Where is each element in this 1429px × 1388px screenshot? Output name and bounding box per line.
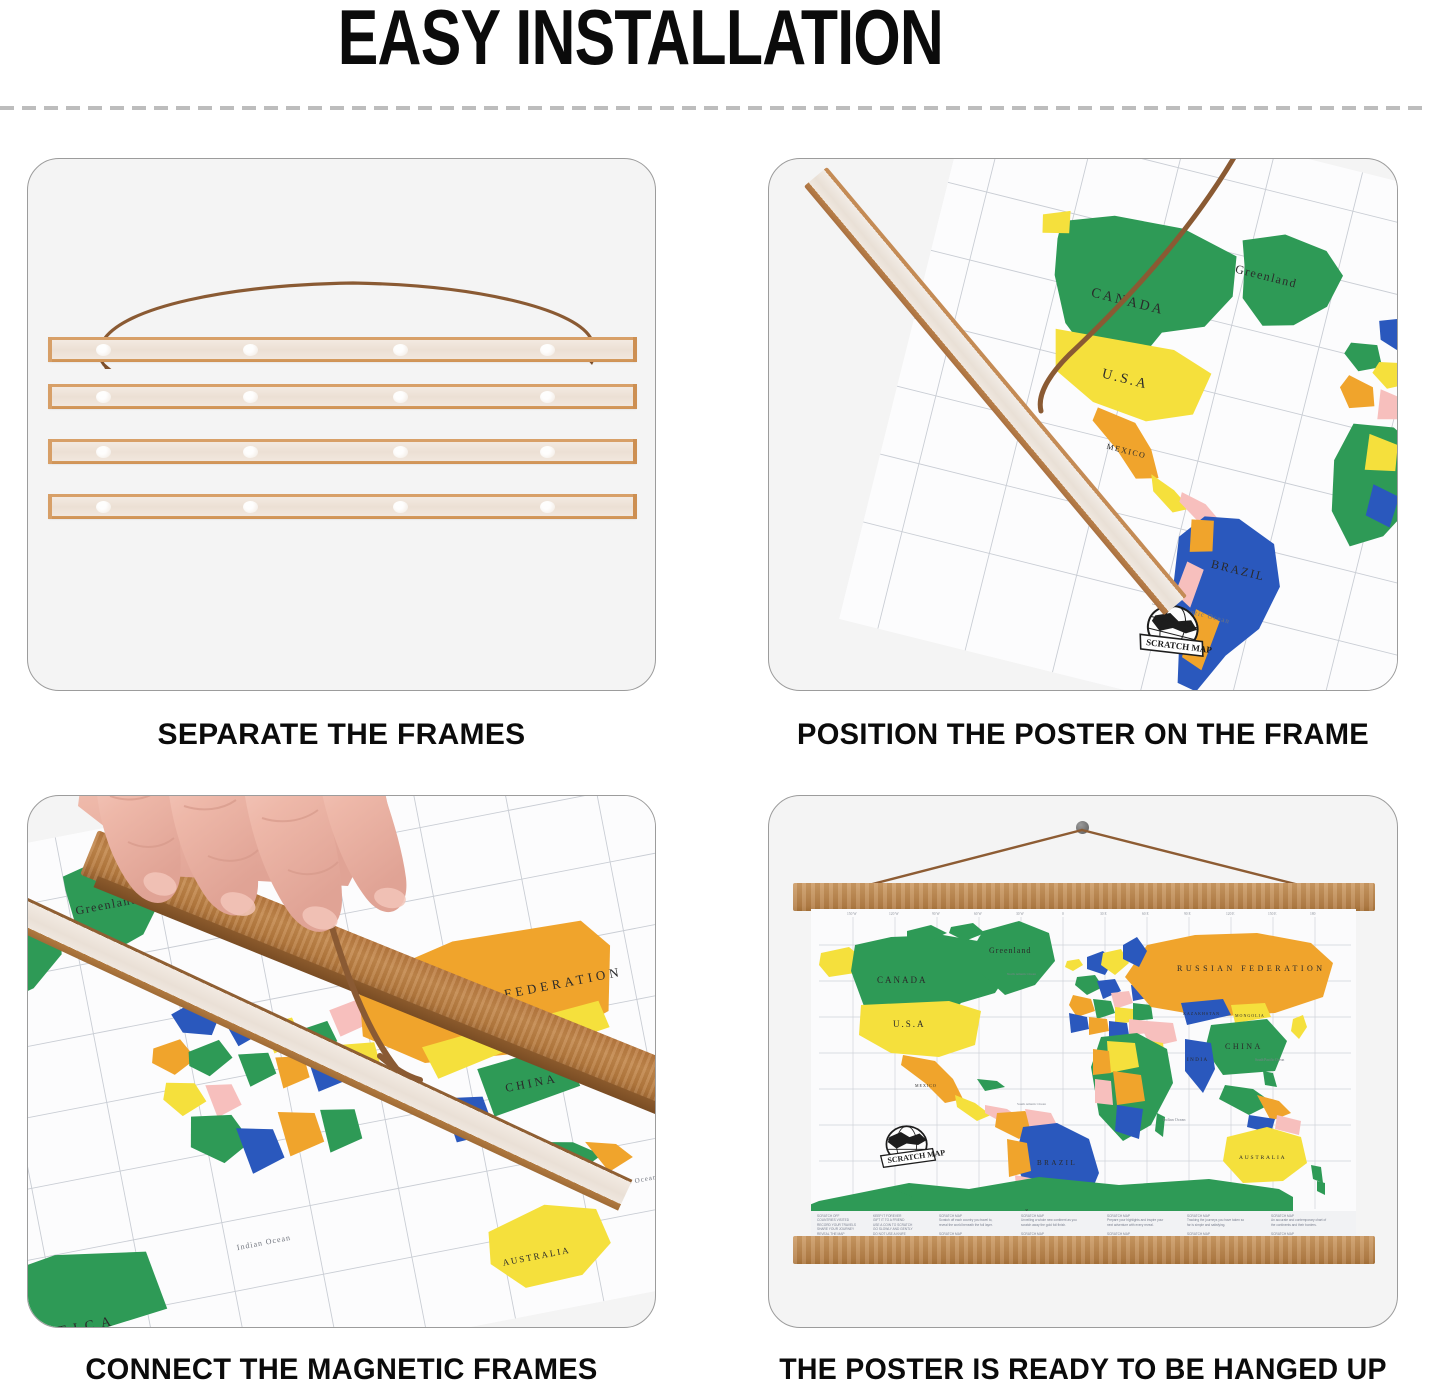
magnet-dot <box>96 344 111 356</box>
map-tick-label: 150 W <box>847 912 857 916</box>
magnet-row <box>48 494 637 519</box>
map-label-canada: CANADA <box>877 975 928 985</box>
step-4-caption: THE POSTER IS READY TO BE HANGED UP <box>774 1353 1392 1387</box>
hanging-poster-scene: 150 W 120 W 90 W 60 W 30 W 0 30 E 60 E 9… <box>769 796 1398 1328</box>
map-label-usa: U.S.A <box>893 1019 926 1029</box>
legend-column: SCRATCH MAP Unveiling a whole new contin… <box>1021 1214 1099 1238</box>
legend-column: SCRATCH MAP Tracking the journeys you ha… <box>1187 1214 1263 1238</box>
map-tick-label: 60 W <box>974 912 982 916</box>
world-map-poster[interactable]: 150 W 120 W 90 W 60 W 30 W 0 30 E 60 E 9… <box>811 909 1356 1239</box>
map-tick-label: 30 W <box>1016 912 1024 916</box>
step-2-panel-position-the-poster: CANADA U.S.A Greenland MEXICO BRAZIL RUS… <box>768 158 1398 691</box>
magnet-row <box>48 439 637 464</box>
magnet-dot <box>243 344 258 356</box>
map-tick-label: 120 E <box>1226 912 1235 916</box>
map-tick-label: 150 E <box>1268 912 1277 916</box>
magnet-dot <box>243 391 258 403</box>
map-label-north-atlantic-ocean: North Atlantic Ocean <box>1007 972 1036 976</box>
map-label-south-pacific-ocean: South Pacific Ocean <box>1255 1058 1285 1062</box>
world-map-artwork: 150 W 120 W 90 W 60 W 30 W 0 30 E 60 E 9… <box>811 909 1356 1239</box>
map-tick-label: 60 E <box>1142 912 1149 916</box>
frame-strip[interactable] <box>48 384 637 409</box>
step-2-caption: POSITION THE POSTER ON THE FRAME <box>768 718 1399 752</box>
easy-installation-instruction-sheet: EASY INSTALLATION <box>0 0 1429 1388</box>
bottom-magnetic-frame-bar[interactable] <box>793 1236 1375 1264</box>
magnet-dot <box>243 501 258 513</box>
magnet-dot <box>540 344 555 356</box>
map-label-brazil: BRAZIL <box>1037 1159 1077 1167</box>
legend-column: SCRATCH OFF COUNTRIES VISITED RECORD YOU… <box>817 1214 869 1238</box>
magnet-dot <box>540 501 555 513</box>
step-3-panel-connect-the-magnetic-frames: CANADA U.S.A Greenland RUSSIAN FEDERATIO… <box>27 795 656 1328</box>
magnet-dot <box>393 501 408 513</box>
map-label-mongolia: MONGOLIA <box>1235 1013 1265 1018</box>
map-label-russian-federation: RUSSIAN FEDERATION <box>1177 964 1326 973</box>
magnet-dot <box>393 446 408 458</box>
map-label-kazakhstan: KAZAKHSTAN <box>1183 1011 1220 1016</box>
magnet-dot <box>393 344 408 356</box>
map-label-south-atlantic-ocean: South Atlantic Ocean <box>1017 1102 1046 1106</box>
step-1-panel-separate-the-frames <box>27 158 656 691</box>
poster-on-frame-scene: CANADA U.S.A Greenland MEXICO BRAZIL RUS… <box>769 159 1398 691</box>
frame-strip[interactable] <box>48 494 637 519</box>
map-tick-label: 0 <box>1062 912 1064 916</box>
frame-strip-with-cord[interactable] <box>48 337 637 362</box>
frame-strip[interactable] <box>48 439 637 464</box>
top-magnetic-frame-bar[interactable] <box>793 883 1375 911</box>
map-label-australia: AUSTRALIA <box>1239 1155 1286 1161</box>
magnet-row <box>48 384 637 409</box>
page-title: EASY INSTALLATION <box>83 0 1198 79</box>
magnet-dot <box>393 391 408 403</box>
magnet-dot <box>96 391 111 403</box>
magnet-dot <box>243 446 258 458</box>
magnet-dot <box>96 501 111 513</box>
magnet-dot <box>540 446 555 458</box>
legend-column: SCRATCH MAP Scratch off each country you… <box>939 1214 1013 1238</box>
magnet-row <box>48 337 637 362</box>
map-label-mexico: MEXICO <box>915 1083 937 1088</box>
leather-hanging-cord <box>769 159 1398 691</box>
magnet-dot <box>96 446 111 458</box>
map-tick-label: 120 W <box>889 912 899 916</box>
magnet-dot <box>540 391 555 403</box>
step-3-caption: CONNECT THE MAGNETIC FRAMES <box>27 1353 657 1387</box>
map-label-china: CHINA <box>1225 1042 1263 1051</box>
legend-column: SCRATCH MAP Prepare your highlights and … <box>1107 1214 1181 1238</box>
map-tick-label: 90 W <box>932 912 940 916</box>
step-1-caption: SEPARATE THE FRAMES <box>27 718 656 752</box>
legend-column: KEEP IT FOREVER GIFT IT TO A FRIEND USE … <box>873 1214 927 1238</box>
map-label-indian-ocean: Indian Ocean <box>1163 1117 1186 1122</box>
map-tick-label: 30 E <box>1100 912 1107 916</box>
hand <box>48 795 468 1066</box>
map-tick-label: 90 E <box>1184 912 1191 916</box>
dashed-divider <box>0 106 1429 110</box>
step-4-panel-poster-ready-to-hang: 150 W 120 W 90 W 60 W 30 W 0 30 E 60 E 9… <box>768 795 1398 1328</box>
map-label-india: INDIA <box>1187 1058 1209 1063</box>
map-tick-label: 180 <box>1310 912 1316 916</box>
poster-legend-fine-print: SCRATCH OFF COUNTRIES VISITED RECORD YOU… <box>811 1211 1356 1238</box>
map-label-greenland: Greenland <box>989 946 1031 955</box>
legend-column: SCRATCH MAP An accurate and contemporary… <box>1271 1214 1349 1238</box>
